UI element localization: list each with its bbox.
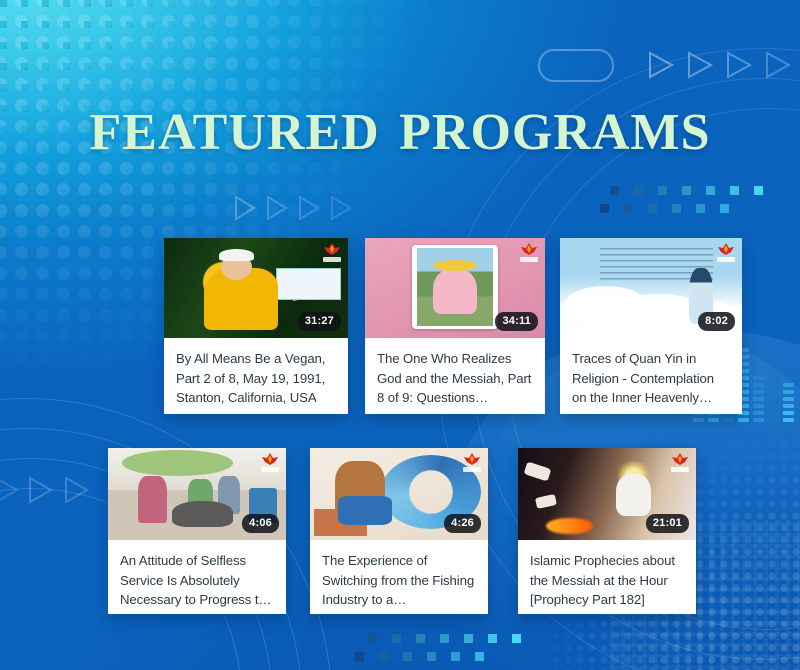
duration-badge: 4:06 (242, 514, 279, 533)
program-title: The Experience of Switching from the Fis… (310, 540, 488, 614)
program-card[interactable]: 4:06 An Attitude of Selfless Service Is … (108, 448, 286, 614)
play-triangle-icon-11 (62, 474, 92, 506)
pill-outline-icon (538, 49, 614, 82)
featured-programs-banner: Featured Programs 31:27 By All Means Be … (0, 0, 800, 670)
channel-logo-icon (461, 452, 483, 472)
play-triangle-icon-3 (724, 50, 754, 80)
channel-logo-icon (518, 242, 540, 262)
play-triangle-icon-9 (0, 474, 22, 506)
page-title: Featured Programs (0, 88, 800, 162)
square-dot-row-bottom-1 (368, 634, 521, 643)
channel-logo-icon (715, 242, 737, 262)
play-triangle-icon-7 (296, 194, 322, 222)
play-triangle-icon-1 (646, 50, 676, 80)
program-thumbnail[interactable]: 31:27 (164, 238, 348, 338)
program-title: Islamic Prophecies about the Messiah at … (518, 540, 696, 614)
duration-badge: 8:02 (698, 312, 735, 331)
duration-badge: 21:01 (646, 514, 689, 533)
play-triangle-icon-10 (26, 474, 56, 506)
program-title: The One Who Realizes God and the Messiah… (365, 338, 545, 414)
channel-logo-icon (259, 452, 281, 472)
square-dot-row-bottom-2 (355, 652, 484, 661)
play-triangle-icon-8 (328, 194, 354, 222)
program-thumbnail[interactable]: 4:06 (108, 448, 286, 540)
play-triangle-icon-5 (232, 194, 258, 222)
program-title: By All Means Be a Vegan, Part 2 of 8, Ma… (164, 338, 348, 414)
play-triangle-icon-6 (264, 194, 290, 222)
play-triangle-icon-4 (763, 50, 793, 80)
program-card[interactable]: 4:26 The Experience of Switching from th… (310, 448, 488, 614)
square-dot-row-top-2 (600, 204, 729, 213)
program-card[interactable]: 34:11 The One Who Realizes God and the M… (365, 238, 545, 414)
program-title: An Attitude of Selfless Service Is Absol… (108, 540, 286, 614)
program-card[interactable]: 31:27 By All Means Be a Vegan, Part 2 of… (164, 238, 348, 414)
program-card[interactable]: 8:02 Traces of Quan Yin in Religion - Co… (560, 238, 742, 414)
channel-logo-icon (321, 242, 343, 262)
program-card[interactable]: 21:01 Islamic Prophecies about the Messi… (518, 448, 696, 614)
duration-badge: 4:26 (444, 514, 481, 533)
duration-badge: 34:11 (495, 312, 538, 331)
square-dot-row-top (610, 186, 763, 195)
program-thumbnail[interactable]: 8:02 (560, 238, 742, 338)
program-thumbnail[interactable]: 34:11 (365, 238, 545, 338)
channel-logo-icon (669, 452, 691, 472)
play-triangle-icon-2 (685, 50, 715, 80)
program-thumbnail[interactable]: 21:01 (518, 448, 696, 540)
program-title: Traces of Quan Yin in Religion - Contemp… (560, 338, 742, 414)
program-thumbnail[interactable]: 4:26 (310, 448, 488, 540)
duration-badge: 31:27 (298, 312, 341, 331)
